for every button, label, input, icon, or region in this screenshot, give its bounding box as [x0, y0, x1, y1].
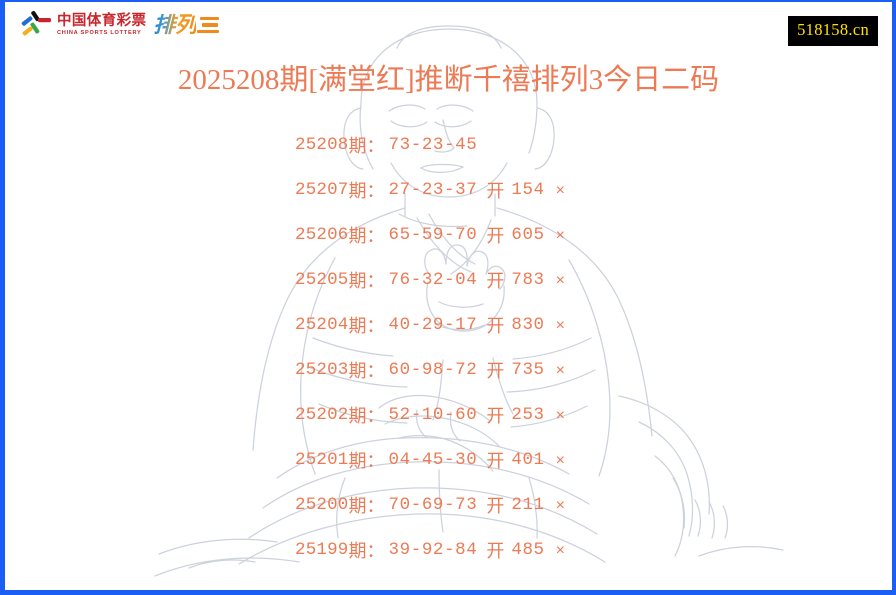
page-inner: 中国体育彩票 CHINA SPORTS LOTTERY 排列 518158.cn… — [5, 2, 892, 590]
result-mark: × — [556, 453, 565, 469]
issue-number: 25203 — [295, 362, 349, 380]
issue-suffix: 期 — [349, 182, 367, 200]
issue-suffix: 期 — [349, 452, 367, 470]
issue-number: 25206 — [295, 227, 349, 245]
predicted-codes: 70-69-73 — [389, 497, 478, 515]
result-mark: × — [556, 318, 565, 334]
page-title: 2025208期[满堂红]推断千禧排列3今日二码 — [5, 66, 892, 95]
site-url-badge: 518158.cn — [788, 16, 878, 46]
issue-number: 25199 — [295, 542, 349, 560]
draw-result: 253 — [511, 407, 544, 425]
result-mark: × — [556, 183, 565, 199]
issue-number: 25205 — [295, 272, 349, 290]
draw-result: 735 — [511, 362, 544, 380]
separator-colon: ： — [367, 137, 385, 155]
list-item: 25207期：27-23-37开154× — [295, 168, 892, 213]
predicted-codes: 40-29-17 — [389, 317, 478, 335]
separator-colon: ： — [367, 407, 385, 425]
issue-suffix: 期 — [349, 542, 367, 560]
game-logo-pailiesan: 排列 — [153, 10, 219, 40]
predicted-codes: 60-98-72 — [389, 362, 478, 380]
brand-wordmark: 中国体育彩票 CHINA SPORTS LOTTERY — [57, 14, 146, 37]
result-mark: × — [556, 543, 565, 559]
lottery-prediction-page: 中国体育彩票 CHINA SPORTS LOTTERY 排列 518158.cn… — [0, 0, 896, 595]
list-item: 25206期：65-59-70开605× — [295, 213, 892, 258]
draw-prefix-label: 开 — [486, 272, 504, 290]
result-mark: × — [556, 408, 565, 424]
issue-suffix: 期 — [349, 227, 367, 245]
issue-suffix: 期 — [349, 317, 367, 335]
draw-result: 783 — [511, 272, 544, 290]
brand-name-cn: 中国体育彩票 — [57, 14, 146, 29]
draw-prefix-label: 开 — [486, 227, 504, 245]
list-item: 25199期：39-92-84开485× — [295, 528, 892, 573]
issue-number: 25202 — [295, 407, 349, 425]
list-item: 25204期：40-29-17开830× — [295, 303, 892, 348]
page-header: 中国体育彩票 CHINA SPORTS LOTTERY 排列 518158.cn — [5, 2, 892, 50]
issue-suffix: 期 — [349, 407, 367, 425]
list-item: 25200期：70-69-73开211× — [295, 483, 892, 528]
list-item: 25208期：73-23-45开 — [295, 123, 892, 168]
issue-suffix: 期 — [349, 362, 367, 380]
draw-prefix-label: 开 — [486, 497, 504, 515]
brand-name-en: CHINA SPORTS LOTTERY — [57, 31, 146, 37]
list-item: 25203期：60-98-72开735× — [295, 348, 892, 393]
separator-colon: ： — [367, 542, 385, 560]
separator-colon: ： — [367, 497, 385, 515]
result-mark: × — [556, 363, 565, 379]
separator-colon: ： — [367, 227, 385, 245]
list-item: 25202期：52-10-60开253× — [295, 393, 892, 438]
list-item: 25205期：76-32-04开783× — [295, 258, 892, 303]
issue-number: 25200 — [295, 497, 349, 515]
issue-number: 25204 — [295, 317, 349, 335]
separator-colon: ： — [367, 452, 385, 470]
issue-number: 25208 — [295, 137, 349, 155]
separator-colon: ： — [367, 317, 385, 335]
result-mark: × — [556, 273, 565, 289]
draw-result: 605 — [511, 227, 544, 245]
issue-suffix: 期 — [349, 137, 367, 155]
predicted-codes: 39-92-84 — [389, 542, 478, 560]
draw-result: 211 — [511, 497, 544, 515]
draw-prefix-label: 开 — [486, 452, 504, 470]
result-mark: × — [556, 228, 565, 244]
draw-result: 485 — [511, 542, 544, 560]
draw-result: 830 — [511, 317, 544, 335]
predicted-codes: 73-23-45 — [389, 137, 478, 155]
separator-colon: ： — [367, 362, 385, 380]
issue-suffix: 期 — [349, 272, 367, 290]
result-mark: × — [556, 498, 565, 514]
separator-colon: ： — [367, 272, 385, 290]
china-sports-lottery-logo-icon — [19, 10, 53, 40]
issue-suffix: 期 — [349, 497, 367, 515]
draw-prefix-label: 开 — [486, 362, 504, 380]
list-item: 25201期：04-45-30开401× — [295, 438, 892, 483]
draw-prefix-label: 开 — [486, 317, 504, 335]
game-number-three-icon — [197, 14, 219, 36]
predicted-codes: 04-45-30 — [389, 452, 478, 470]
draw-prefix-label: 开 — [486, 182, 504, 200]
predicted-codes: 76-32-04 — [389, 272, 478, 290]
game-name-label: 排列 — [153, 14, 196, 36]
predicted-codes: 27-23-37 — [389, 182, 478, 200]
draw-prefix-label: 开 — [486, 407, 504, 425]
predicted-codes: 65-59-70 — [389, 227, 478, 245]
prediction-list: 25208期：73-23-45开 25207期：27-23-37开154× 25… — [5, 123, 892, 573]
issue-number: 25207 — [295, 182, 349, 200]
separator-colon: ： — [367, 182, 385, 200]
lottery-brand-logo: 中国体育彩票 CHINA SPORTS LOTTERY 排列 — [19, 9, 219, 41]
issue-number: 25201 — [295, 452, 349, 470]
draw-result: 401 — [511, 452, 544, 470]
predicted-codes: 52-10-60 — [389, 407, 478, 425]
draw-prefix-label: 开 — [486, 542, 504, 560]
draw-result: 154 — [511, 182, 544, 200]
